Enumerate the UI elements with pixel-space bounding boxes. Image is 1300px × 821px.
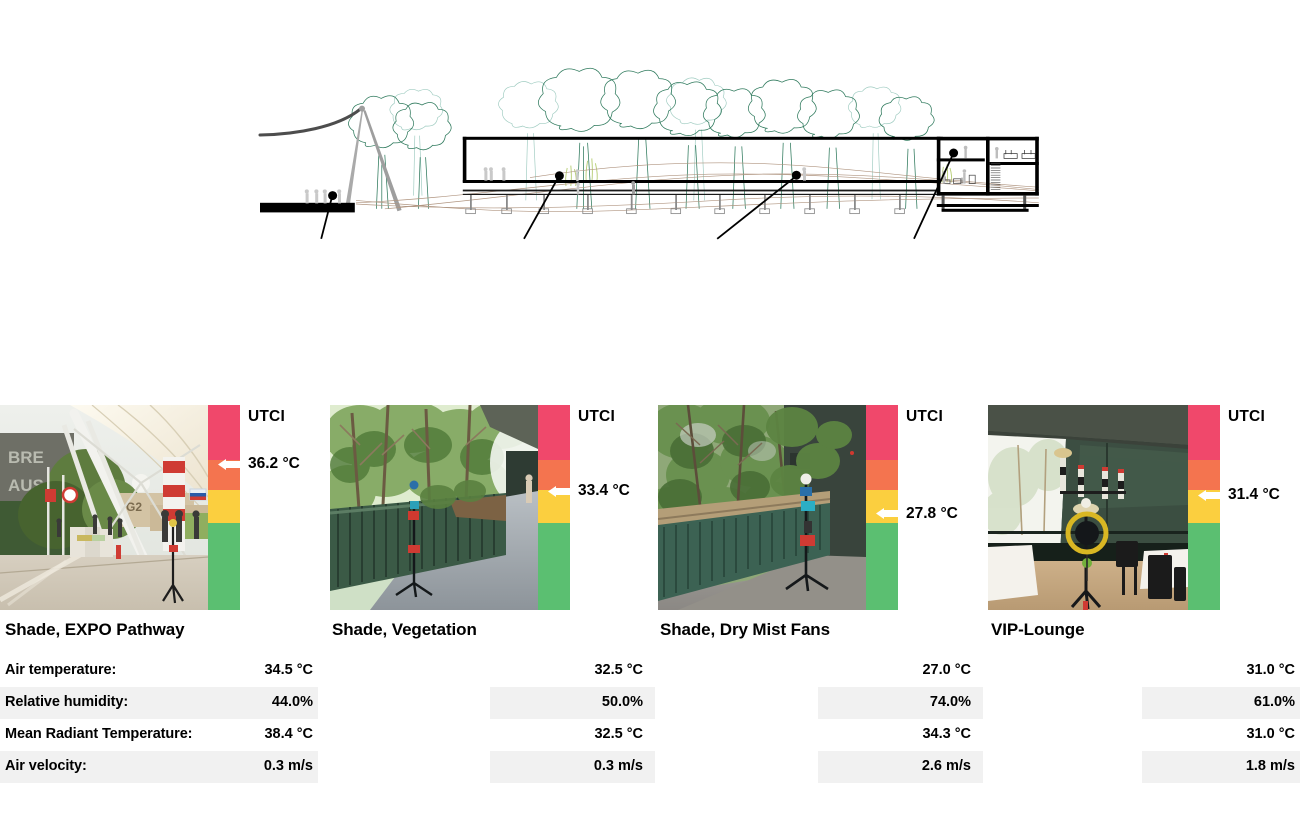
table-row: Mean Radiant Temperature: 38.4 °C 32.5 °… xyxy=(0,719,1300,751)
caption-shade-vegetation: Shade, Vegetation xyxy=(332,620,477,640)
row-value-3: 27.0 °C xyxy=(838,662,971,678)
row-value-1: 0.3 m/s xyxy=(180,758,313,774)
utci-scale-segment-1 xyxy=(866,405,898,460)
utci-marker-arrow-1 xyxy=(218,459,248,470)
row-value-3: 2.6 m/s xyxy=(838,758,971,774)
photo-shade-expo-pathway: BRE AUS G2 xyxy=(0,405,208,610)
row-value-1: 34.5 °C xyxy=(180,662,313,678)
row-value-1: 44.0% xyxy=(180,694,313,710)
utci-value-1: 36.2 °C xyxy=(248,455,300,473)
row-value-4: 61.0% xyxy=(1162,694,1295,710)
utci-marker-arrow-2 xyxy=(548,486,578,497)
utci-label-1: UTCI xyxy=(248,408,285,426)
utci-scale-segment-1 xyxy=(208,405,240,460)
utci-scale-segment-3 xyxy=(208,490,240,523)
utci-label-3: UTCI xyxy=(906,408,943,426)
row-value-2: 32.5 °C xyxy=(510,662,643,678)
table-row: Air velocity: 0.3 m/s 0.3 m/s 2.6 m/s 1.… xyxy=(0,751,1300,783)
svg-text:BRE: BRE xyxy=(8,448,44,467)
utci-value-4: 31.4 °C xyxy=(1228,486,1280,504)
table-row: Air temperature: 34.5 °C 32.5 °C 27.0 °C… xyxy=(0,655,1300,687)
row-value-1: 38.4 °C xyxy=(180,726,313,742)
photo-vip-lounge xyxy=(988,405,1188,610)
utci-colorbar-1 xyxy=(208,405,240,610)
leader-line-1 xyxy=(321,191,337,239)
row-value-2: 0.3 m/s xyxy=(510,758,643,774)
utci-value-3: 27.8 °C xyxy=(906,505,958,523)
photo-shade-vegetation xyxy=(330,405,538,610)
utci-colorbar-4 xyxy=(1188,405,1220,610)
photo-shade-dry-mist-fans xyxy=(658,405,866,610)
utci-scale-segment-4 xyxy=(866,523,898,610)
row-label: Relative humidity: xyxy=(5,694,128,710)
row-value-4: 1.8 m/s xyxy=(1162,758,1295,774)
table-row: Relative humidity: 44.0% 50.0% 74.0% 61.… xyxy=(0,687,1300,719)
measurements-table: Air temperature: 34.5 °C 32.5 °C 27.0 °C… xyxy=(0,655,1300,783)
utci-scale-segment-4 xyxy=(538,523,570,610)
utci-marker-arrow-3 xyxy=(876,508,906,519)
row-label: Air temperature: xyxy=(5,662,116,678)
row-value-2: 50.0% xyxy=(510,694,643,710)
row-value-4: 31.0 °C xyxy=(1162,726,1295,742)
row-value-3: 74.0% xyxy=(838,694,971,710)
architectural-section-drawing xyxy=(0,0,1300,240)
row-value-2: 32.5 °C xyxy=(510,726,643,742)
utci-label-2: UTCI xyxy=(578,408,615,426)
utci-scale-segment-2 xyxy=(866,460,898,490)
utci-scale-segment-1 xyxy=(538,405,570,460)
utci-marker-arrow-4 xyxy=(1198,490,1228,501)
expo-pathway-platform xyxy=(260,203,355,213)
caption-shade-expo-pathway: Shade, EXPO Pathway xyxy=(5,620,185,640)
utci-scale-segment-2 xyxy=(1188,460,1220,490)
utci-scale-segment-4 xyxy=(1188,523,1220,610)
vip-lounge-building-section xyxy=(937,137,1039,212)
row-value-4: 31.0 °C xyxy=(1162,662,1295,678)
row-label: Mean Radiant Temperature: xyxy=(5,726,192,742)
utci-scale-segment-1 xyxy=(1188,405,1220,460)
caption-shade-dry-mist-fans: Shade, Dry Mist Fans xyxy=(660,620,830,640)
airflow-ray-curves xyxy=(356,163,1039,212)
utci-value-2: 33.4 °C xyxy=(578,482,630,500)
figure-root: BRE AUS G2 xyxy=(0,0,1300,821)
utci-scale-segment-4 xyxy=(208,523,240,610)
row-label: Air velocity: xyxy=(5,758,87,774)
leader-line-group xyxy=(321,149,958,239)
pathway-deck-structure xyxy=(463,137,943,214)
row-value-3: 34.3 °C xyxy=(838,726,971,742)
utci-label-4: UTCI xyxy=(1228,408,1265,426)
caption-vip-lounge: VIP-Lounge xyxy=(991,620,1084,640)
utci-colorbar-2 xyxy=(538,405,570,610)
